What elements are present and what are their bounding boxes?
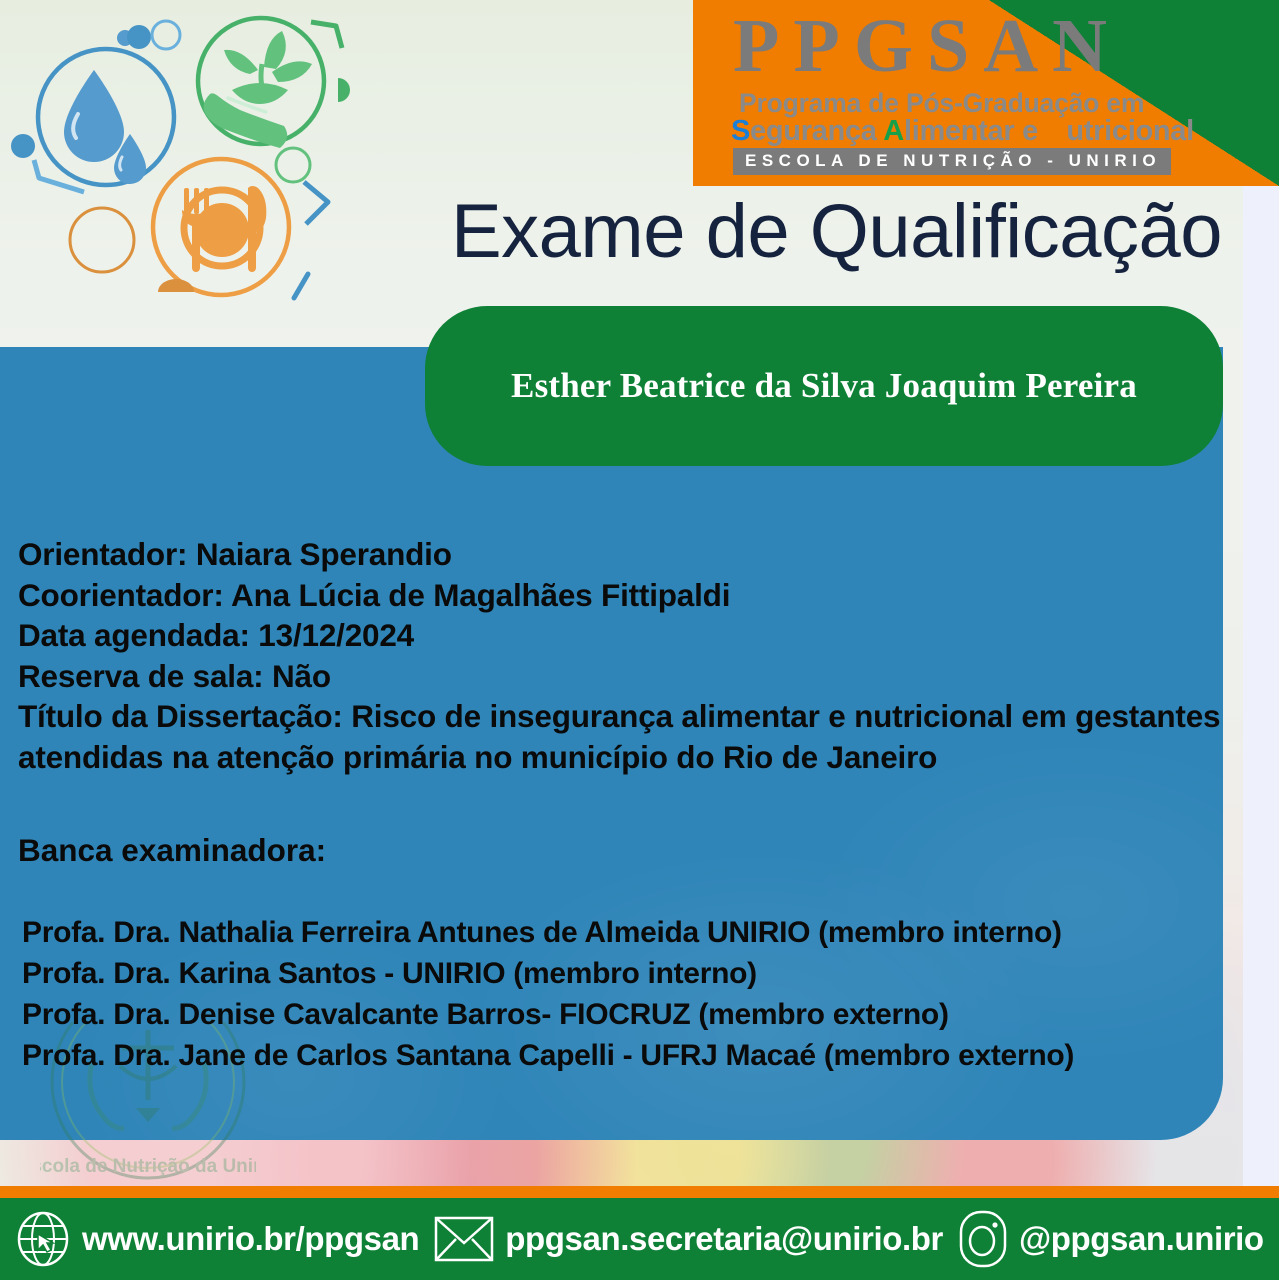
water-drop-icon [11, 21, 180, 192]
banca-member: Profa. Dra. Nathalia Ferreira Antunes de… [22, 912, 1227, 953]
detail-orientador: Orientador: Naiara Sperandio [18, 534, 1228, 575]
banca-label: Banca examinadora: [18, 832, 326, 869]
detail-data-agendada: Data agendada: 13/12/2024 [18, 615, 1228, 656]
page-title: Exame de Qualificação [0, 194, 1246, 270]
logo-nutricional: utricional [1066, 115, 1194, 147]
ppgsan-wordmark: PPGSAN [733, 8, 1121, 84]
ppgsan-school-strip: ESCOLA DE NUTRIÇÃO - UNIRIO [733, 148, 1171, 175]
logo-letter-n: N [1046, 115, 1067, 147]
detail-coorientador: Coorientador: Ana Lúcia de Magalhães Fit… [18, 575, 1228, 616]
footer-bar: www.unirio.br/ppgsan ppgsan.secretaria@u… [0, 1198, 1279, 1280]
footer-email-text: ppgsan.secretaria@unirio.br [505, 1220, 943, 1258]
banca-list: Profa. Dra. Nathalia Ferreira Antunes de… [22, 912, 1227, 1076]
poster-root: PPGSAN Programa de Pós-Graduação em Segu… [0, 0, 1279, 1280]
globe-icon [14, 1210, 72, 1268]
logo-alimentar: limentar e [904, 115, 1046, 147]
footer-instagram-item[interactable]: @ppgsan.unirio [957, 1208, 1264, 1270]
banca-member: Profa. Dra. Denise Cavalcante Barros- FI… [22, 994, 1227, 1035]
footer-website-text: www.unirio.br/ppgsan [82, 1220, 419, 1258]
footer-instagram-text: @ppgsan.unirio [1019, 1220, 1264, 1258]
envelope-icon [433, 1210, 495, 1268]
student-name: Esther Beatrice da Silva Joaquim Pereira [511, 366, 1137, 406]
footer-website-item[interactable]: www.unirio.br/ppgsan [14, 1210, 419, 1268]
detail-reserva-sala: Reserva de sala: Não [18, 656, 1228, 697]
banca-member: Profa. Dra. Karina Santos - UNIRIO (memb… [22, 953, 1227, 994]
detail-titulo-dissertacao: Título da Dissertação: Risco de insegura… [18, 696, 1228, 777]
logo-letter-s: S [731, 115, 750, 147]
instagram-icon [957, 1208, 1009, 1270]
logo-letter-a: A [883, 115, 904, 147]
ppgsan-logo-block: PPGSAN Programa de Pós-Graduação em Segu… [693, 0, 1279, 186]
student-name-banner: Esther Beatrice da Silva Joaquim Pereira [425, 306, 1223, 466]
footer-email-item[interactable]: ppgsan.secretaria@unirio.br [433, 1210, 943, 1268]
footer-orange-rule [0, 1186, 1279, 1198]
details-block: Orientador: Naiara Sperandio Coorientado… [18, 534, 1228, 777]
banca-member: Profa. Dra. Jane de Carlos Santana Capel… [22, 1035, 1227, 1076]
logo-seguranca: egurança [750, 115, 883, 147]
san-icon-cluster [6, 2, 358, 338]
ppgsan-subtitle-line2: Segurança Alimentar e Nutricional [731, 115, 1194, 148]
